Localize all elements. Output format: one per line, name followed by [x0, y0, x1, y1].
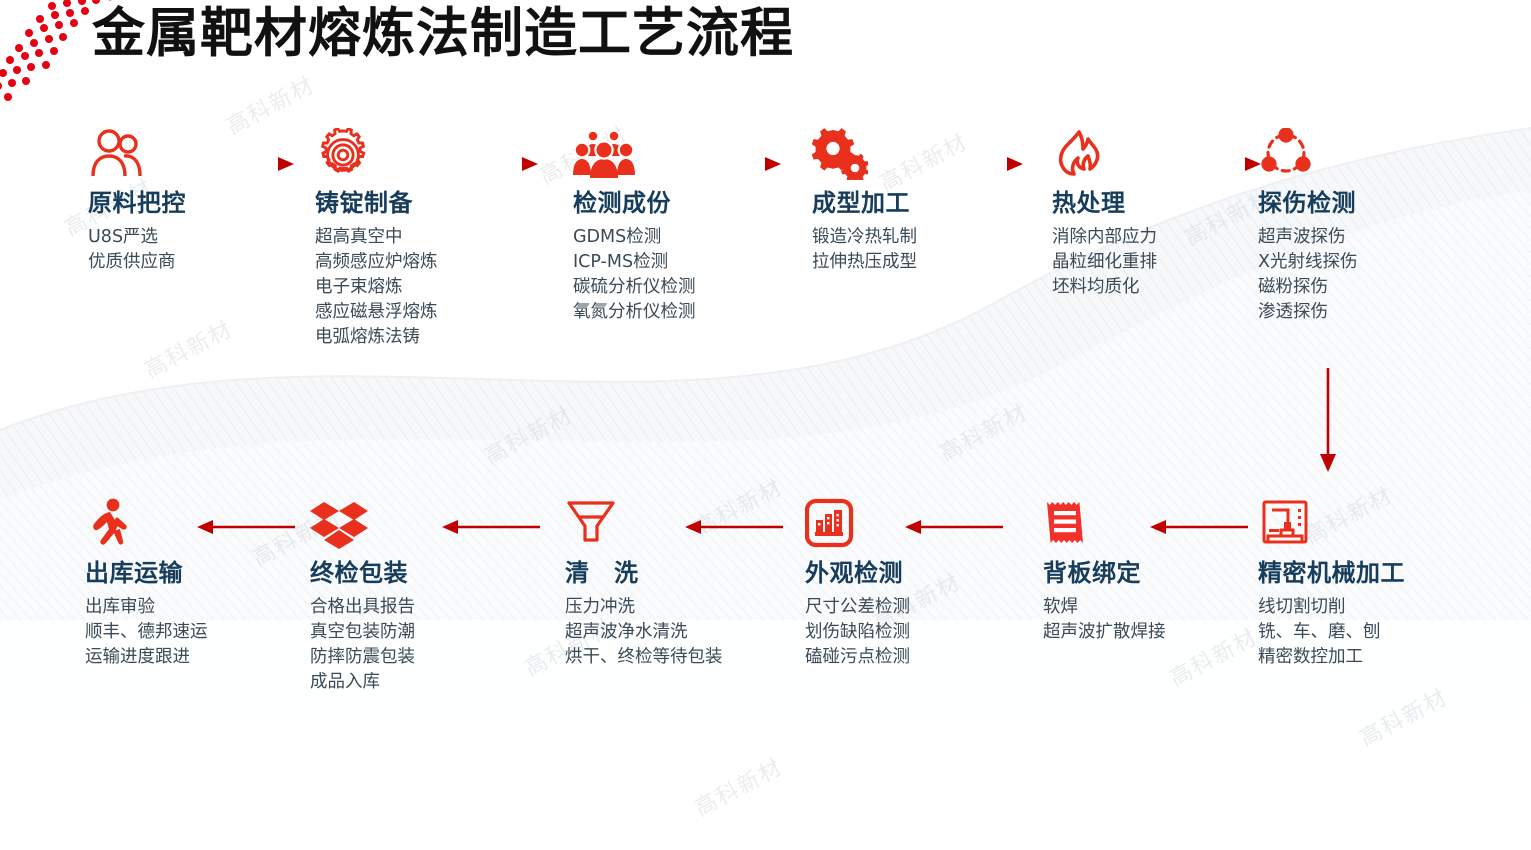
- user-group-icon: [573, 128, 788, 184]
- list-item: 优质供应商: [88, 250, 303, 275]
- step-heading: 外观检测: [805, 560, 1020, 586]
- process-step-9[interactable]: 外观检测 尺寸公差检测 划伤缺陷检测 磕碰污点检测: [805, 498, 1020, 670]
- process-step-3[interactable]: 检测成份 GDMS检测 ICP-MS检测 碳硫分析仪检测 氧氮分析仪检测: [573, 128, 788, 325]
- list-item: 运输进度跟进: [85, 645, 300, 670]
- list-item: 出库审验: [85, 595, 300, 620]
- step-heading: 检测成份: [573, 190, 788, 216]
- step-detail-list: 尺寸公差检测 划伤缺陷检测 磕碰污点检测: [805, 595, 1020, 670]
- step-detail-list: U8S严选 优质供应商: [88, 225, 303, 275]
- cnc-machine-icon: [1258, 498, 1473, 554]
- list-item: 烘干、终检等待包装: [565, 645, 740, 670]
- process-step-2[interactable]: 铸锭制备 超高真空中 高频感应炉熔炼 电子束熔炼 感应磁悬浮熔炼 电弧熔炼法铸: [315, 128, 530, 350]
- list-item: X光射线探伤: [1258, 250, 1473, 275]
- step-heading: 探伤检测: [1258, 190, 1473, 216]
- step-detail-list: 合格出具报告 真空包装防潮 防摔防震包装 成品入库: [310, 595, 525, 695]
- list-item: 真空包装防潮: [310, 620, 525, 645]
- process-step-10[interactable]: 清 洗 压力冲洗 超声波净水清洗 烘干、终检等待包装: [565, 498, 780, 670]
- process-step-8[interactable]: 背板绑定 软焊 超声波扩散焊接: [1043, 498, 1258, 645]
- list-item: 线切割切削: [1258, 595, 1473, 620]
- step-detail-list: 压力冲洗 超声波净水清洗 烘干、终检等待包装: [565, 595, 740, 670]
- list-item: 合格出具报告: [310, 595, 525, 620]
- list-item: 成品入库: [310, 670, 525, 695]
- watermark: 高科新材: [138, 311, 238, 384]
- step-heading: 铸锭制备: [315, 190, 530, 216]
- process-step-5[interactable]: 热处理 消除内部应力 晶粒细化重排 坯料均质化: [1052, 128, 1267, 300]
- step-heading: 终检包装: [310, 560, 525, 586]
- step-heading: 原料把控: [88, 190, 303, 216]
- step-heading: 精密机械加工: [1258, 560, 1473, 586]
- list-item: 氧氮分析仪检测: [573, 300, 788, 325]
- gears-icon: [812, 128, 1027, 184]
- step-detail-list: 锻造冷热轧制 拉伸热压成型: [812, 225, 1027, 275]
- triangle-nodes-icon: [1258, 128, 1473, 184]
- step-detail-list: 消除内部应力 晶粒细化重排 坯料均质化: [1052, 225, 1267, 300]
- step-detail-list: 出库审验 顺丰、德邦速运 运输进度跟进: [85, 595, 300, 670]
- list-item: 渗透探伤: [1258, 300, 1473, 325]
- step-heading: 背板绑定: [1043, 560, 1258, 586]
- list-item: 铣、车、磨、刨: [1258, 620, 1473, 645]
- process-step-11[interactable]: 终检包装 合格出具报告 真空包装防潮 防摔防震包装 成品入库: [310, 498, 525, 695]
- step-detail-list: 线切割切削 铣、车、磨、刨 精密数控加工: [1258, 595, 1473, 670]
- step-heading: 出库运输: [85, 560, 300, 586]
- process-step-4[interactable]: 成型加工 锻造冷热轧制 拉伸热压成型: [812, 128, 1027, 275]
- step-detail-list: 超高真空中 高频感应炉熔炼 电子束熔炼 感应磁悬浮熔炼 电弧熔炼法铸: [315, 225, 530, 350]
- list-item: 划伤缺陷检测: [805, 620, 1020, 645]
- step-detail-list: 超声波探伤 X光射线探伤 磁粉探伤 渗透探伤: [1258, 225, 1473, 325]
- list-item: 拉伸热压成型: [812, 250, 1027, 275]
- list-item: 消除内部应力: [1052, 225, 1267, 250]
- list-item: 超声波净水清洗: [565, 620, 740, 645]
- list-item: 锻造冷热轧制: [812, 225, 1027, 250]
- factory-icon: [805, 498, 1020, 554]
- flow-arrow-down-connector: [1310, 368, 1346, 476]
- list-item: 压力冲洗: [565, 595, 740, 620]
- list-item: 坯料均质化: [1052, 275, 1267, 300]
- list-item: 高频感应炉熔炼: [315, 250, 530, 275]
- list-item: 晶粒细化重排: [1052, 250, 1267, 275]
- list-item: 磕碰污点检测: [805, 645, 1020, 670]
- open-box-icon: [310, 498, 525, 554]
- step-heading: 成型加工: [812, 190, 1027, 216]
- infographic-canvas: 高科新材 高科新材 高科新材 高科新材 高科新材 高科新材 高科新材 高科新材 …: [0, 0, 1531, 850]
- list-item: 软焊: [1043, 595, 1258, 620]
- list-item: U8S严选: [88, 225, 303, 250]
- funnel-icon: [565, 498, 780, 554]
- list-item: 尺寸公差检测: [805, 595, 1020, 620]
- list-item: 精密数控加工: [1258, 645, 1473, 670]
- process-step-7[interactable]: 精密机械加工 线切割切削 铣、车、磨、刨 精密数控加工: [1258, 498, 1473, 670]
- flame-icon: [1052, 128, 1267, 184]
- list-item: 电弧熔炼法铸: [315, 325, 530, 350]
- list-item: 碳硫分析仪检测: [573, 275, 788, 300]
- watermark: 高科新材: [688, 749, 788, 822]
- receipt-icon: [1043, 498, 1258, 554]
- list-item: 超高真空中: [315, 225, 530, 250]
- step-heading: 清 洗: [565, 560, 780, 586]
- list-item: 超声波扩散焊接: [1043, 620, 1258, 645]
- walking-person-icon: [85, 498, 300, 554]
- list-item: ICP-MS检测: [573, 250, 788, 275]
- list-item: 感应磁悬浮熔炼: [315, 300, 530, 325]
- list-item: 超声波探伤: [1258, 225, 1473, 250]
- process-step-1[interactable]: 原料把控 U8S严选 优质供应商: [88, 128, 303, 275]
- process-step-12[interactable]: 出库运输 出库审验 顺丰、德邦速运 运输进度跟进: [85, 498, 300, 670]
- watermark: 高科新材: [1353, 679, 1453, 752]
- step-detail-list: GDMS检测 ICP-MS检测 碳硫分析仪检测 氧氮分析仪检测: [573, 225, 788, 325]
- process-step-6[interactable]: 探伤检测 超声波探伤 X光射线探伤 磁粉探伤 渗透探伤: [1258, 128, 1473, 325]
- watermark: 高科新材: [478, 397, 578, 470]
- list-item: 顺丰、德邦速运: [85, 620, 300, 645]
- watermark: 高科新材: [933, 394, 1033, 467]
- list-item: 防摔防震包装: [310, 645, 525, 670]
- list-item: 电子束熔炼: [315, 275, 530, 300]
- step-heading: 热处理: [1052, 190, 1267, 216]
- list-item: 磁粉探伤: [1258, 275, 1473, 300]
- list-item: GDMS检测: [573, 225, 788, 250]
- gear-target-icon: [315, 128, 530, 184]
- page-title: 金属靶材熔炼法制造工艺流程: [92, 4, 794, 65]
- step-detail-list: 软焊 超声波扩散焊接: [1043, 595, 1258, 645]
- users-icon: [88, 128, 303, 184]
